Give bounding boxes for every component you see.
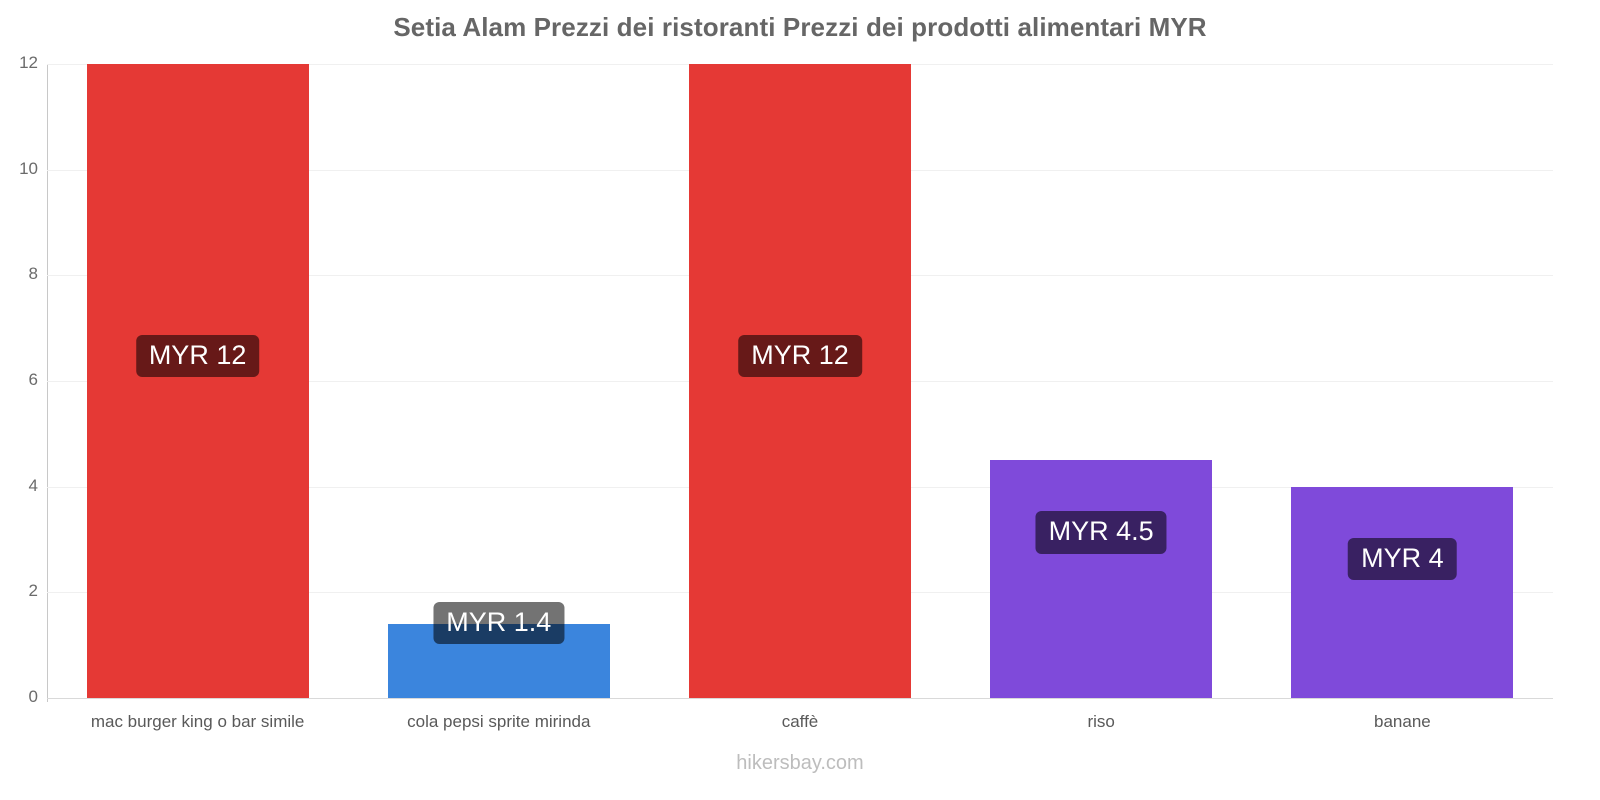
x-category-label: caffè (649, 712, 950, 732)
x-category-label: cola pepsi sprite mirinda (348, 712, 649, 732)
bar-value-label: MYR 1.4 (433, 602, 564, 644)
gridline (47, 698, 1553, 699)
y-tick-label: 8 (0, 264, 38, 284)
chart-title: Setia Alam Prezzi dei ristoranti Prezzi … (0, 12, 1600, 43)
footer-credit: hikersbay.com (0, 752, 1600, 775)
y-tick-label: 0 (0, 687, 38, 707)
y-axis-tick-labels: 024681012 (0, 64, 38, 698)
x-axis-category-labels: mac burger king o bar similecola pepsi s… (47, 712, 1553, 742)
bar[interactable]: MYR 4.5 (990, 460, 1212, 698)
x-category-label: banane (1252, 712, 1553, 732)
bar[interactable]: MYR 12 (689, 64, 911, 698)
y-tick-label: 10 (0, 159, 38, 179)
x-category-label: mac burger king o bar simile (47, 712, 348, 732)
bar-value-label: MYR 12 (738, 335, 862, 377)
bar[interactable]: MYR 4 (1291, 487, 1513, 698)
y-tick-label: 6 (0, 370, 38, 390)
y-tick-label: 4 (0, 476, 38, 496)
plot-area: MYR 12MYR 1.4MYR 12MYR 4.5MYR 4 (47, 64, 1553, 698)
bar[interactable]: MYR 1.4 (388, 624, 610, 698)
x-category-label: riso (951, 712, 1252, 732)
bar-value-label: MYR 4.5 (1036, 511, 1167, 553)
bar-value-label: MYR 4 (1348, 538, 1457, 580)
bar-value-label: MYR 12 (136, 335, 260, 377)
y-tick-label: 12 (0, 53, 38, 73)
bar[interactable]: MYR 12 (87, 64, 309, 698)
bar-chart: Setia Alam Prezzi dei ristoranti Prezzi … (0, 0, 1600, 800)
y-tick-label: 2 (0, 581, 38, 601)
